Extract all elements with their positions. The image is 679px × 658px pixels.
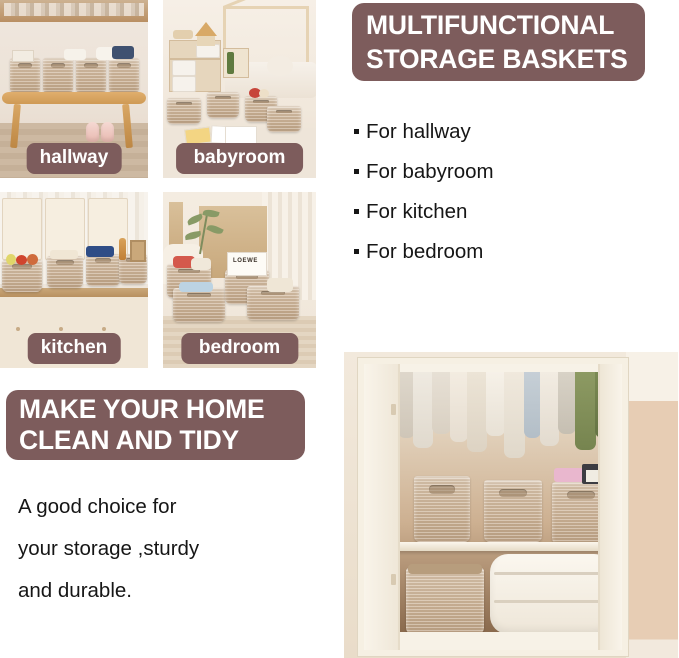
bullet-square-icon: [354, 169, 359, 174]
wardrobe-door-right: [598, 364, 622, 650]
promo-body-text: A good choice for your storage ,sturdy a…: [18, 486, 318, 612]
photo-tile-hallway: hallway: [0, 0, 148, 178]
promo-banner: MAKE YOUR HOME CLEAN AND TIDY: [6, 390, 305, 460]
photo-tile-label-bedroom: bedroom: [181, 333, 298, 364]
bullet-label: For babyroom: [366, 152, 494, 192]
promo-banner-line1: MAKE YOUR HOME: [19, 394, 292, 425]
photo-tile-bedroom: LOEWE bedroom: [163, 192, 316, 368]
bullet-item-bedroom: For bedroom: [354, 232, 654, 272]
bedroom-book-title: LOEWE: [233, 258, 258, 264]
bullet-label: For kitchen: [366, 192, 467, 232]
promo-body-line2: your storage ,sturdy: [18, 528, 318, 570]
bullet-square-icon: [354, 209, 359, 214]
wardrobe-cabinet: [358, 358, 628, 656]
bullet-item-hallway: For hallway: [354, 112, 654, 152]
bullet-label: For hallway: [366, 112, 471, 152]
hero-photo-wardrobe: [344, 352, 678, 658]
photo-tile-label-babyroom: babyroom: [176, 143, 304, 174]
title-banner-line2: STORAGE BASKETS: [366, 42, 631, 76]
photo-tile-label-kitchen: kitchen: [28, 333, 121, 364]
photo-tile-label-hallway: hallway: [27, 143, 122, 174]
bullet-item-babyroom: For babyroom: [354, 152, 654, 192]
photo-tile-babyroom: babyroom: [163, 0, 316, 178]
bullet-label: For bedroom: [366, 232, 483, 272]
title-banner: MULTIFUNCTIONAL STORAGE BASKETS: [352, 3, 645, 81]
photo-grid: hallway: [0, 0, 330, 368]
promo-body-line3: and durable.: [18, 570, 318, 612]
feature-bullet-list: For hallway For babyroom For kitchen For…: [354, 112, 654, 272]
bullet-item-kitchen: For kitchen: [354, 192, 654, 232]
title-banner-line1: MULTIFUNCTIONAL: [366, 8, 631, 42]
bullet-square-icon: [354, 249, 359, 254]
product-infographic: hallway: [0, 0, 679, 658]
wardrobe-door-left: [364, 364, 400, 650]
promo-banner-line2: CLEAN AND TIDY: [19, 425, 292, 456]
wardrobe-interior: [398, 372, 600, 632]
bullet-square-icon: [354, 129, 359, 134]
promo-body-line1: A good choice for: [18, 486, 318, 528]
photo-tile-kitchen: kitchen: [0, 192, 148, 368]
